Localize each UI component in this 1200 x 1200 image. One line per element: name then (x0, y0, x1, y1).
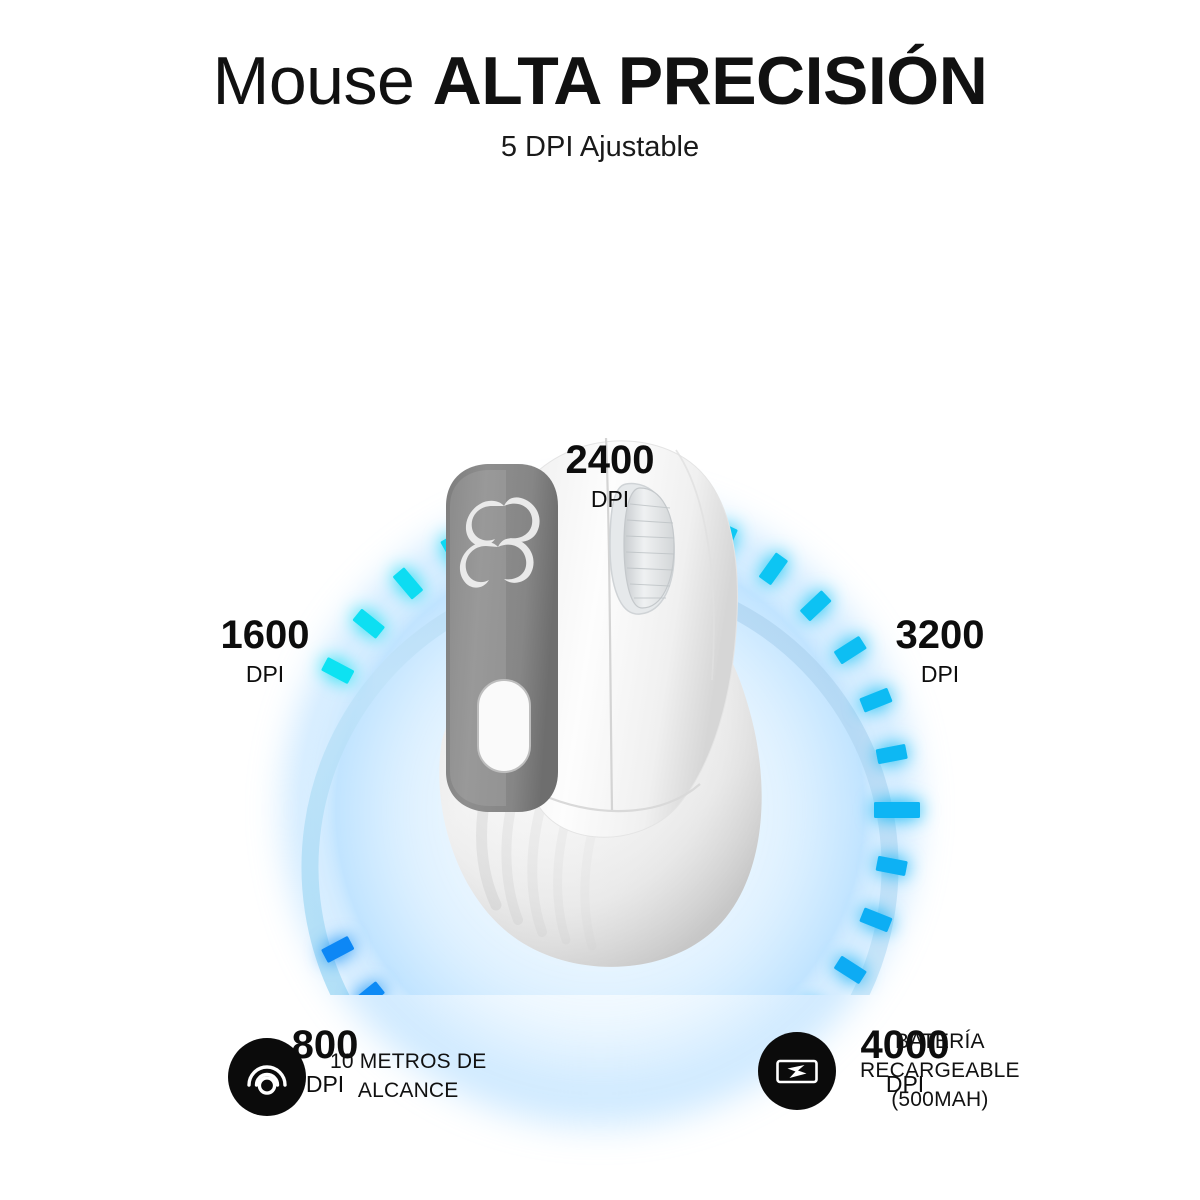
feature-row: 10 METROS DE ALCANCE BATERÍA RECARGEABLE… (0, 1022, 1200, 1162)
header: Mouse ALTA PRECISIÓN 5 DPI Ajustable (0, 46, 1200, 164)
feature-line: RECARGEABLE (860, 1057, 1020, 1086)
feature-line: ALCANCE (330, 1077, 486, 1106)
dpi-label-1600: 1600 DPI (155, 615, 375, 686)
dpi-unit: DPI (500, 488, 720, 511)
wireless-signal-icon (228, 1038, 306, 1116)
dpi-unit: DPI (830, 663, 1050, 686)
dpi-value: 1600 (155, 615, 375, 655)
dpi-gauge: 2400 DPI 1600 DPI 3200 DPI 800 DPI 4000 … (0, 195, 1200, 995)
feature-range-text: 10 METROS DE ALCANCE (330, 1048, 486, 1106)
gauge-tick-active (874, 802, 920, 818)
battery-charging-icon (758, 1032, 836, 1110)
dpi-value: 2400 (500, 440, 720, 480)
page-title: Mouse ALTA PRECISIÓN (0, 46, 1200, 117)
dpi-unit: DPI (155, 663, 375, 686)
feature-line: 10 METROS DE (330, 1048, 486, 1077)
page-subtitle: 5 DPI Ajustable (0, 131, 1200, 164)
title-light-part: Mouse (213, 43, 433, 119)
dpi-value: 3200 (830, 615, 1050, 655)
dpi-label-2400: 2400 DPI (500, 440, 720, 511)
title-bold-part: ALTA PRECISIÓN (433, 43, 988, 119)
feature-battery: BATERÍA RECARGEABLE (500MAH) (758, 1028, 1020, 1115)
feature-line: BATERÍA (860, 1028, 1020, 1057)
feature-range: 10 METROS DE ALCANCE (228, 1038, 486, 1116)
product-infographic: Mouse ALTA PRECISIÓN 5 DPI Ajustable (0, 0, 1200, 1200)
thumb-button (478, 680, 530, 772)
feature-battery-text: BATERÍA RECARGEABLE (500MAH) (860, 1028, 1020, 1115)
feature-line: (500MAH) (860, 1086, 1020, 1115)
dpi-label-3200: 3200 DPI (830, 615, 1050, 686)
